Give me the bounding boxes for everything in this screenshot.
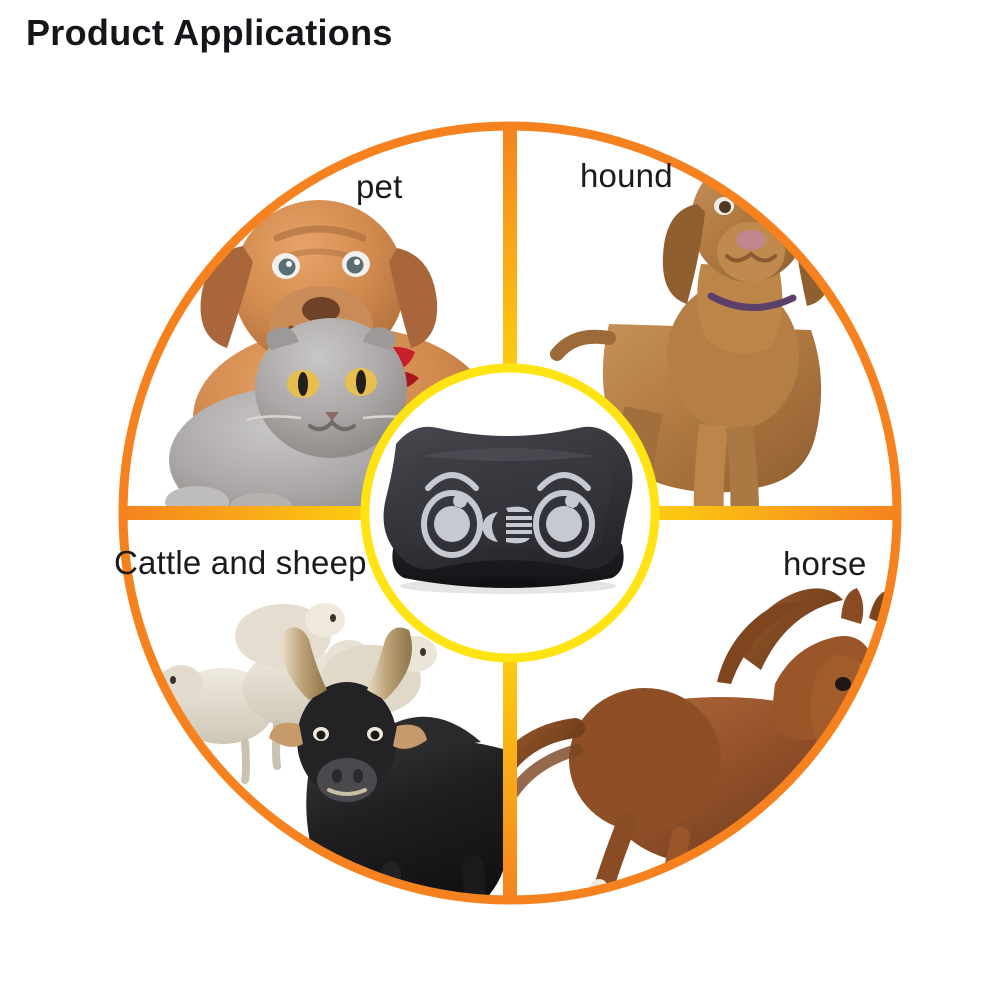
quadrant-label-horse: horse	[783, 545, 867, 583]
product-applications-infographic: Product Applications	[0, 0, 1000, 1000]
page-title: Product Applications	[26, 12, 393, 54]
pet-gps-tracker-device	[348, 416, 668, 621]
quadrant-label-hound: hound	[580, 157, 673, 195]
quadrant-label-cattle-and-sheep: Cattle and sheep	[114, 544, 367, 582]
quadrant-label-pet: pet	[356, 168, 402, 206]
